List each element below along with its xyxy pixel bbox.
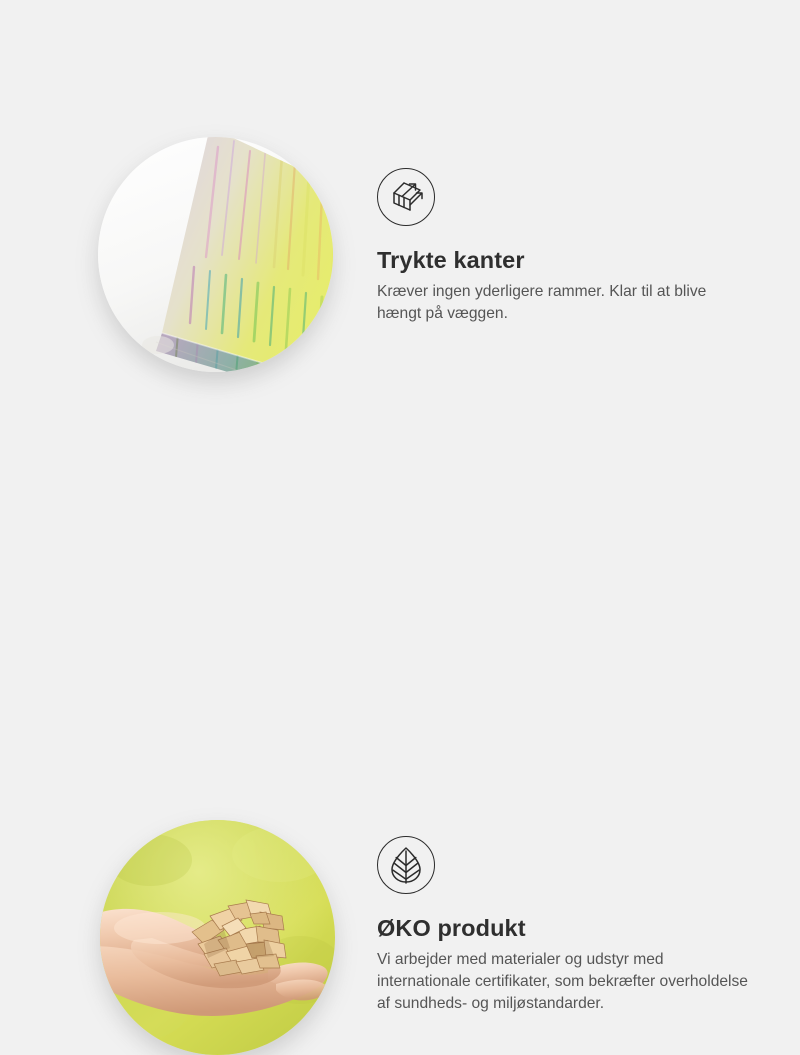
feature-title-eco-product: ØKO produkt — [377, 915, 757, 942]
feature-section-printed-edges: Trykte kanter Kræver ingen yderligere ra… — [0, 0, 800, 400]
canvas-corner-photo — [98, 137, 333, 372]
wood-chips-photo-graphic — [100, 820, 335, 1055]
feature-description-printed-edges: Kræver ingen yderligere rammer. Klar til… — [377, 281, 749, 325]
printed-canvas-edge-icon-glyph — [388, 179, 424, 215]
feature-text-eco-product: ØKO produkt Vi arbejder med materialer o… — [377, 836, 757, 1015]
feature-description-eco-product: Vi arbejder med materialer og udstyr med… — [377, 949, 749, 1015]
canvas-corner-photo-graphic — [98, 137, 333, 372]
leaf-icon-glyph — [388, 846, 424, 884]
printed-canvas-edge-icon — [377, 168, 435, 226]
wood-chips-in-hands-photo — [100, 820, 335, 1055]
leaf-icon — [377, 836, 435, 894]
feature-text-printed-edges: Trykte kanter Kræver ingen yderligere ra… — [377, 168, 757, 325]
feature-section-eco-product: ØKO produkt Vi arbejder med materialer o… — [0, 400, 800, 800]
feature-title-printed-edges: Trykte kanter — [377, 247, 757, 274]
